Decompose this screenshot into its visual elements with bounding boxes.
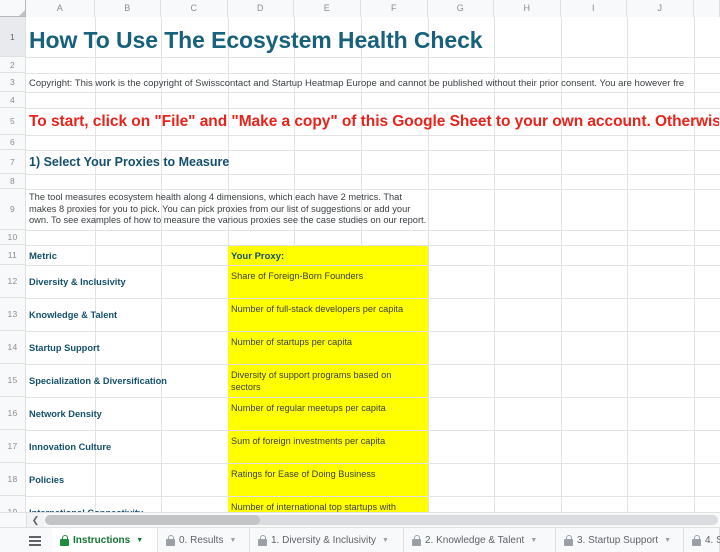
grid-hline [26,189,720,190]
row-header-18[interactable]: 18 [0,463,26,496]
row-header-16[interactable]: 16 [0,397,26,430]
lock-icon [166,535,175,546]
column-header-J[interactable]: J [627,0,694,17]
row-header-11[interactable]: 11 [0,245,26,265]
column-header-F[interactable]: F [361,0,428,17]
metric-name-cell[interactable]: Innovation Culture [29,441,225,472]
chevron-down-icon[interactable]: ▼ [530,537,537,544]
horizontal-scrollbar-row: ❮ [0,512,720,527]
chevron-down-icon[interactable]: ▼ [664,537,671,544]
lock-icon [412,535,421,546]
sheet-tab-label: 4. S [705,536,720,546]
proxy-value-cell[interactable]: Number of full-stack developers per capi… [231,304,423,335]
sheet-tab-2-knowledge-talent[interactable]: 2. Knowledge & Talent▼ [404,528,556,552]
metric-name-cell[interactable]: Network Density [29,408,225,439]
sheet-tab-label: 2. Knowledge & Talent [425,536,524,546]
sheet-tab-label: 1. Diversity & Inclusivity [271,536,376,546]
scrollbar-corner-stub [0,513,27,527]
sheet-tab-0-results[interactable]: 0. Results▼ [158,528,250,552]
sheet-tab-instructions[interactable]: Instructions▼ [52,528,158,552]
row-header-14[interactable]: 14 [0,331,26,364]
column-header-A[interactable]: A [26,0,95,17]
proxy-value-cell[interactable]: Number of regular meetups per capita [231,403,423,434]
row-header-10[interactable]: 10 [0,230,26,245]
column-header-C[interactable]: C [161,0,228,17]
sheet-tab-bar: Instructions▼0. Results▼1. Diversity & I… [0,527,720,552]
scroll-left-arrow-icon[interactable]: ❮ [27,513,44,527]
row-header-12[interactable]: 12 [0,265,26,298]
chevron-down-icon[interactable]: ▼ [229,537,236,544]
make-a-copy-instruction[interactable]: To start, click on "File" and "Make a co… [29,112,719,137]
cell-grid[interactable]: How To Use The Ecosystem Health CheckCop… [26,17,720,512]
horizontal-scrollbar-track[interactable] [45,515,718,525]
row-header-7[interactable]: 7 [0,150,26,174]
row-header-6[interactable]: 6 [0,135,26,150]
sheet-tab-label: 0. Results [179,536,223,546]
lock-icon [60,535,69,546]
metric-name-cell[interactable]: Knowledge & Talent [29,309,225,340]
column-header-D[interactable]: D [228,0,294,17]
metric-name-cell[interactable]: Startup Support [29,342,225,373]
proxy-value-cell[interactable]: Ratings for Ease of Doing Business [231,469,423,500]
column-header-k[interactable] [694,0,720,17]
sheet-tab-label: Instructions [73,536,130,546]
select-all-corner[interactable] [0,0,26,17]
spreadsheet-app: ABCDEFGHIJ 12345678910111213141516171819… [0,0,720,552]
chevron-down-icon[interactable]: ▼ [136,537,143,544]
proxy-value-cell[interactable]: Share of Foreign-Born Founders [231,271,423,302]
section-heading-select-proxies[interactable]: 1) Select Your Proxies to Measure [29,154,429,176]
metric-name-cell[interactable]: Diversity & Inclusivity [29,276,225,307]
column-header-E[interactable]: E [294,0,361,17]
table-header-proxy[interactable]: Your Proxy: [231,251,421,269]
all-sheets-menu-icon[interactable] [26,532,44,550]
sheet-tab-label: 3. Startup Support [577,536,658,546]
proxy-value-cell[interactable]: Number of startups per capita [231,337,423,368]
lock-icon [258,535,267,546]
page-title[interactable]: How To Use The Ecosystem Health Check [29,25,669,63]
column-header-B[interactable]: B [95,0,161,17]
lock-icon [564,535,573,546]
horizontal-scrollbar-thumb[interactable] [45,515,260,525]
sheet-tab-3-startup-support[interactable]: 3. Startup Support▼ [556,528,684,552]
sheet-tab-1-diversity-inclusivity[interactable]: 1. Diversity & Inclusivity▼ [250,528,404,552]
row-header-15[interactable]: 15 [0,364,26,397]
grid-hline [26,108,720,109]
row-header-4[interactable]: 4 [0,92,26,108]
grid-hline [26,150,720,151]
row-header-5[interactable]: 5 [0,108,26,135]
row-header-17[interactable]: 17 [0,430,26,463]
table-header-metric[interactable]: Metric [29,251,219,269]
chevron-down-icon[interactable]: ▼ [382,537,389,544]
row-header-13[interactable]: 13 [0,298,26,331]
column-header-I[interactable]: I [561,0,627,17]
sheet-tab-4-s[interactable]: 4. S▼ [684,528,720,552]
column-header-G[interactable]: G [428,0,494,17]
metric-name-cell[interactable]: Policies [29,474,225,505]
metric-name-cell[interactable]: Specialization & Diversification [29,375,225,406]
grid-hline [26,73,720,74]
proxy-value-cell[interactable]: Sum of foreign investments per capita [231,436,423,467]
row-header-2[interactable]: 2 [0,57,26,73]
column-header-strip: ABCDEFGHIJ [0,0,720,17]
row-header-8[interactable]: 8 [0,174,26,189]
intro-paragraph[interactable]: The tool measures ecosystem health along… [29,192,429,231]
copyright-notice[interactable]: Copyright: This work is the copyright of… [29,77,719,94]
proxy-value-cell[interactable]: Diversity of support programs based on s… [231,370,423,401]
row-header-1[interactable]: 1 [0,17,26,57]
proxy-value-cell[interactable]: Number of international top startups wit… [231,502,423,512]
column-header-H[interactable]: H [494,0,561,17]
row-header-3[interactable]: 3 [0,73,26,92]
row-header-9[interactable]: 9 [0,189,26,230]
lock-icon [692,535,701,546]
